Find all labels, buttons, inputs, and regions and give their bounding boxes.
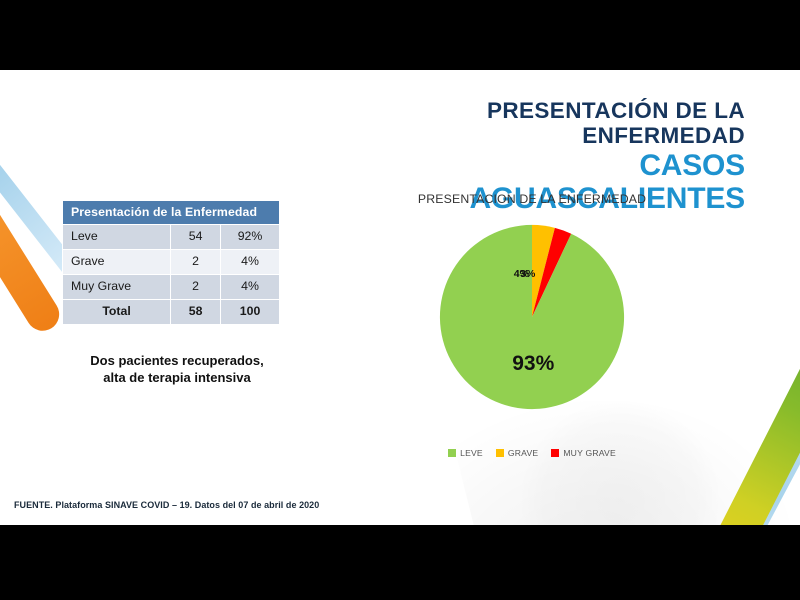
legend-swatch-icon-leve <box>448 449 456 457</box>
cell-count-leve: 54 <box>171 225 221 250</box>
cell-label-total: Total <box>63 300 171 325</box>
legend-swatch-icon-muy-grave <box>551 449 559 457</box>
legend-item-grave[interactable]: GRAVE <box>496 448 538 458</box>
note-line-2: alta de terapia intensiva <box>62 369 292 386</box>
source-footer: FUENTE. Plataforma SINAVE COVID – 19. Da… <box>14 500 319 510</box>
pie-chart-block: PRESENTACION DE LA ENFERMEDAD 93% 4% 3% … <box>372 192 692 512</box>
cell-count-muy-grave: 2 <box>171 275 221 300</box>
legend-item-muy-grave[interactable]: MUY GRAVE <box>551 448 616 458</box>
cell-pct-grave: 4% <box>221 250 280 275</box>
table-row-total: Total 58 100 <box>63 300 280 325</box>
note-line-1: Dos pacientes recuperados, <box>90 353 263 368</box>
cell-count-grave: 2 <box>171 250 221 275</box>
legend-swatch-icon-grave <box>496 449 504 457</box>
decor-stripe-teal-topleft <box>0 73 39 294</box>
table-body: Leve 54 92% Grave 2 4% Muy Grave 2 4% <box>63 225 280 325</box>
headline-line-1: PRESENTACIÓN DE LA <box>400 98 745 123</box>
disease-presentation-table: Presentación de la Enfermedad Leve 54 92… <box>62 200 280 325</box>
pie-chart-area: 93% 4% 3% <box>372 224 692 434</box>
chart-title: PRESENTACION DE LA ENFERMEDAD <box>372 192 692 206</box>
letterbox-bottom <box>0 525 800 600</box>
cell-pct-total: 100 <box>221 300 280 325</box>
decor-stripe-lightblue-bottomright <box>712 334 800 525</box>
chart-legend: LEVE GRAVE MUY GRAVE <box>372 448 692 458</box>
decor-stripe-orange-topleft <box>0 99 65 337</box>
decor-stripe-green-yellow-bottomright <box>694 310 800 525</box>
table-row: Leve 54 92% <box>63 225 280 250</box>
table-row: Muy Grave 2 4% <box>63 275 280 300</box>
cell-label-leve: Leve <box>63 225 171 250</box>
disease-presentation-table-wrap: Presentación de la Enfermedad Leve 54 92… <box>62 200 280 325</box>
legend-label-muy-grave: MUY GRAVE <box>563 448 616 458</box>
legend-item-leve[interactable]: LEVE <box>448 448 483 458</box>
recovered-patients-note: Dos pacientes recuperados, alta de terap… <box>62 352 292 386</box>
pie-chart-svg <box>439 224 625 410</box>
cell-count-total: 58 <box>171 300 221 325</box>
table-row: Grave 2 4% <box>63 250 280 275</box>
cell-pct-muy-grave: 4% <box>221 275 280 300</box>
presentation-slide: PRESENTACIÓN DE LA ENFERMEDAD CASOS AGUA… <box>0 70 800 525</box>
pie-slices <box>440 225 624 409</box>
cell-label-grave: Grave <box>63 250 171 275</box>
legend-label-grave: GRAVE <box>508 448 538 458</box>
letterbox-top <box>0 0 800 70</box>
legend-label-leve: LEVE <box>460 448 483 458</box>
slide-viewer: PRESENTACIÓN DE LA ENFERMEDAD CASOS AGUA… <box>0 0 800 600</box>
table-header-cell: Presentación de la Enfermedad <box>63 201 280 225</box>
headline-line-2: ENFERMEDAD <box>400 123 745 148</box>
cell-pct-leve: 92% <box>221 225 280 250</box>
cell-label-muy-grave: Muy Grave <box>63 275 171 300</box>
table-header-row: Presentación de la Enfermedad <box>63 201 280 225</box>
